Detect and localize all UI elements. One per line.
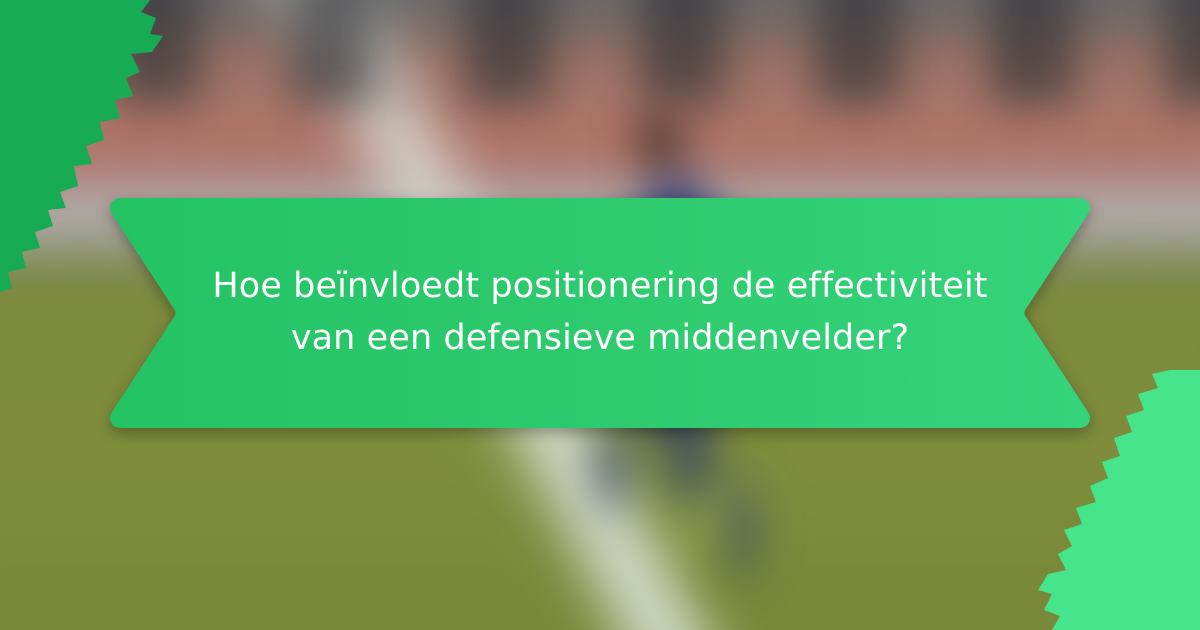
question-title: Hoe beïnvloedt positionering de effectiv… — [205, 261, 995, 365]
share-card: Hoe beïnvloedt positionering de effectiv… — [0, 0, 1200, 630]
question-text-wrapper: Hoe beïnvloedt positionering de effectiv… — [108, 195, 1092, 431]
